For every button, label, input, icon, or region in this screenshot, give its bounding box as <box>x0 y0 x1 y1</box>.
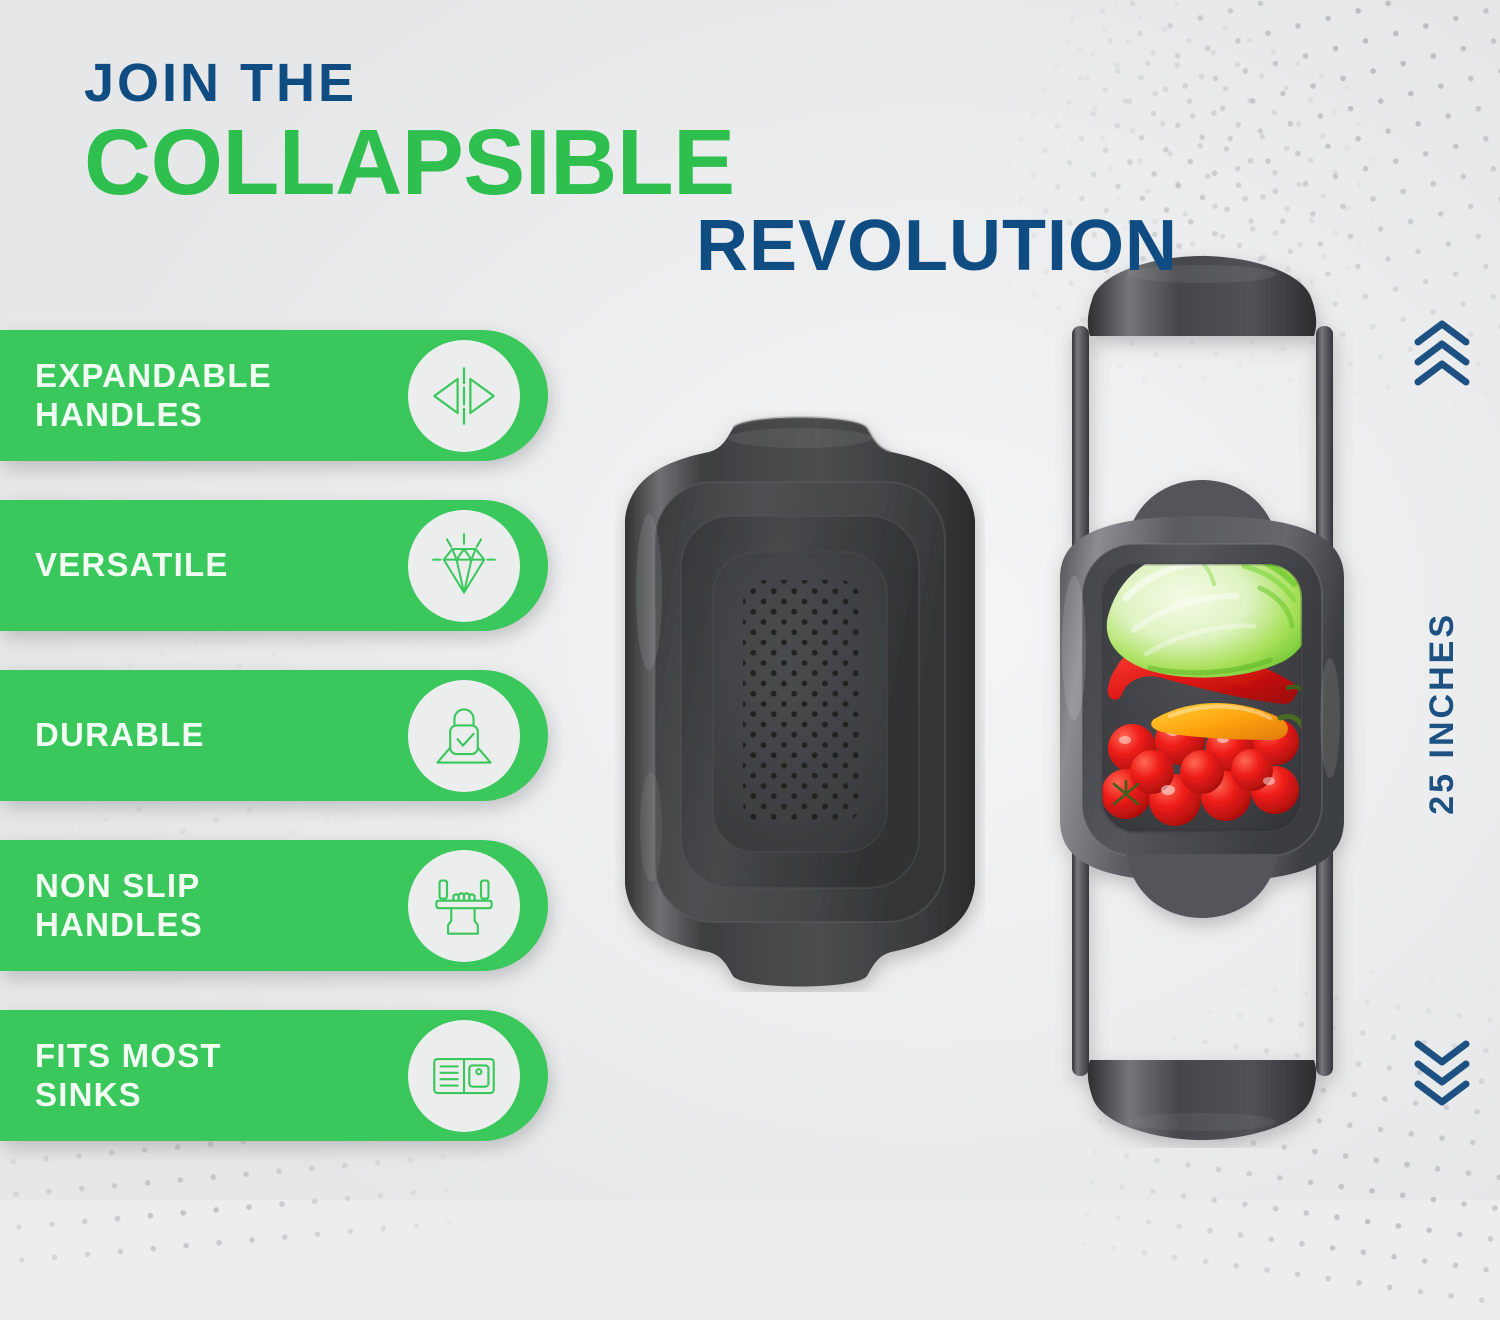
feature-pill-durable[interactable]: DURABLE <box>0 670 548 801</box>
feature-pill-versatile[interactable]: VERSATILE <box>0 500 548 631</box>
padlock-check-icon <box>408 680 520 792</box>
gripping-hand-icon <box>408 850 520 962</box>
feature-label: NON SLIP HANDLES <box>0 867 408 944</box>
feature-pill-expandable-handles[interactable]: EXPANDABLE HANDLES <box>0 330 548 461</box>
feature-label: FITS MOST SINKS <box>0 1037 408 1114</box>
dimension-annotation: 25 INCHES <box>1392 318 1492 1108</box>
colander-body <box>625 418 975 987</box>
feature-pill-non-slip-handles[interactable]: NON SLIP HANDLES <box>0 840 548 971</box>
chevrons-down-icon <box>1406 1038 1478 1108</box>
feature-label: VERSATILE <box>0 546 408 584</box>
feature-pill-fits-most-sinks[interactable]: FITS MOST SINKS <box>0 1010 548 1141</box>
headline-block: JOIN THE COLLAPSIBLE REVOLUTION <box>84 56 1184 284</box>
diamond-gem-icon <box>408 510 520 622</box>
expanded-colander-image <box>1030 248 1375 1148</box>
collapsed-colander-image <box>615 412 985 992</box>
headline-line-collapsible: COLLAPSIBLE <box>84 114 1184 211</box>
chevrons-up-icon <box>1406 318 1478 388</box>
kitchen-sink-icon <box>408 1020 520 1132</box>
expand-arrows-icon <box>408 340 520 452</box>
feature-list: EXPANDABLE HANDLES VERSATILE <box>0 330 548 1180</box>
feature-label: EXPANDABLE HANDLES <box>0 357 408 434</box>
headline-line-revolution: REVOLUTION <box>84 209 1184 285</box>
lower-collar <box>1126 854 1278 918</box>
dimension-label: 25 INCHES <box>1423 612 1462 815</box>
feature-label: DURABLE <box>0 716 408 754</box>
headline-line-join: JOIN THE <box>84 56 1184 110</box>
